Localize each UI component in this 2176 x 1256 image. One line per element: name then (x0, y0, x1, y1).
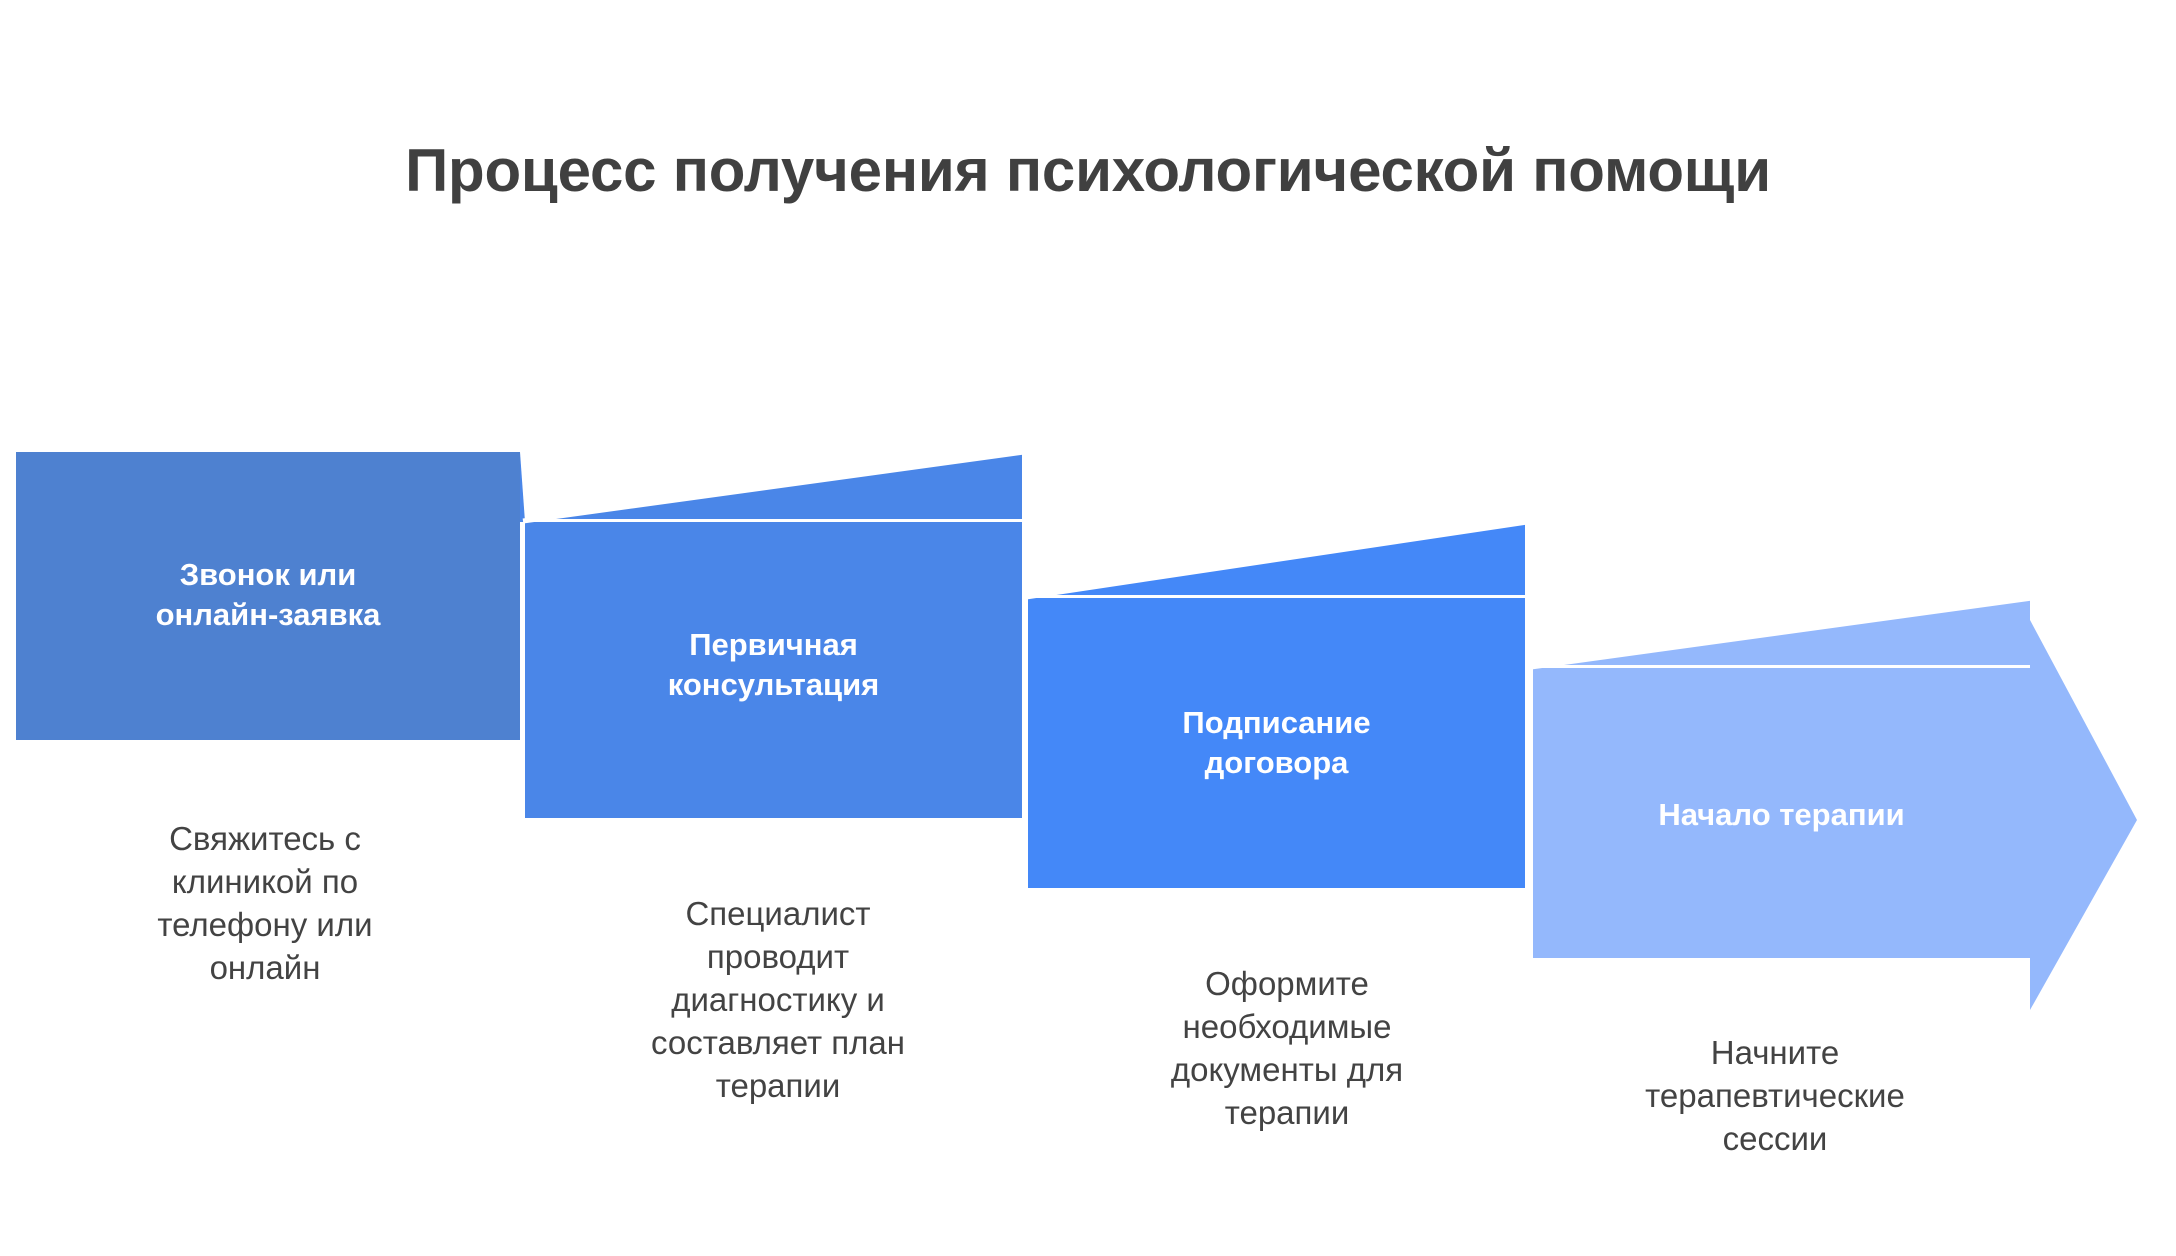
step-1-caption: Свяжитесь с клиникой по телефону или онл… (60, 818, 470, 990)
step-3-heading: Подписание договора (1028, 678, 1525, 808)
step-3-caption: Оформите необходимые документы для терап… (1082, 963, 1492, 1135)
step-2-heading: Первичная консультация (525, 600, 1022, 730)
step-4-caption: Начните терапевтические сессии (1560, 1032, 1990, 1161)
step-2-fold-tab (520, 452, 525, 522)
step-1-heading: Звонок или онлайн-заявка (16, 530, 520, 660)
slide-canvas: Процесс получения психологической помощи (0, 0, 2176, 1256)
step-2-caption: Специалист проводит диагностику и состав… (568, 893, 988, 1107)
step-4-heading: Начало терапии (1533, 750, 2030, 880)
